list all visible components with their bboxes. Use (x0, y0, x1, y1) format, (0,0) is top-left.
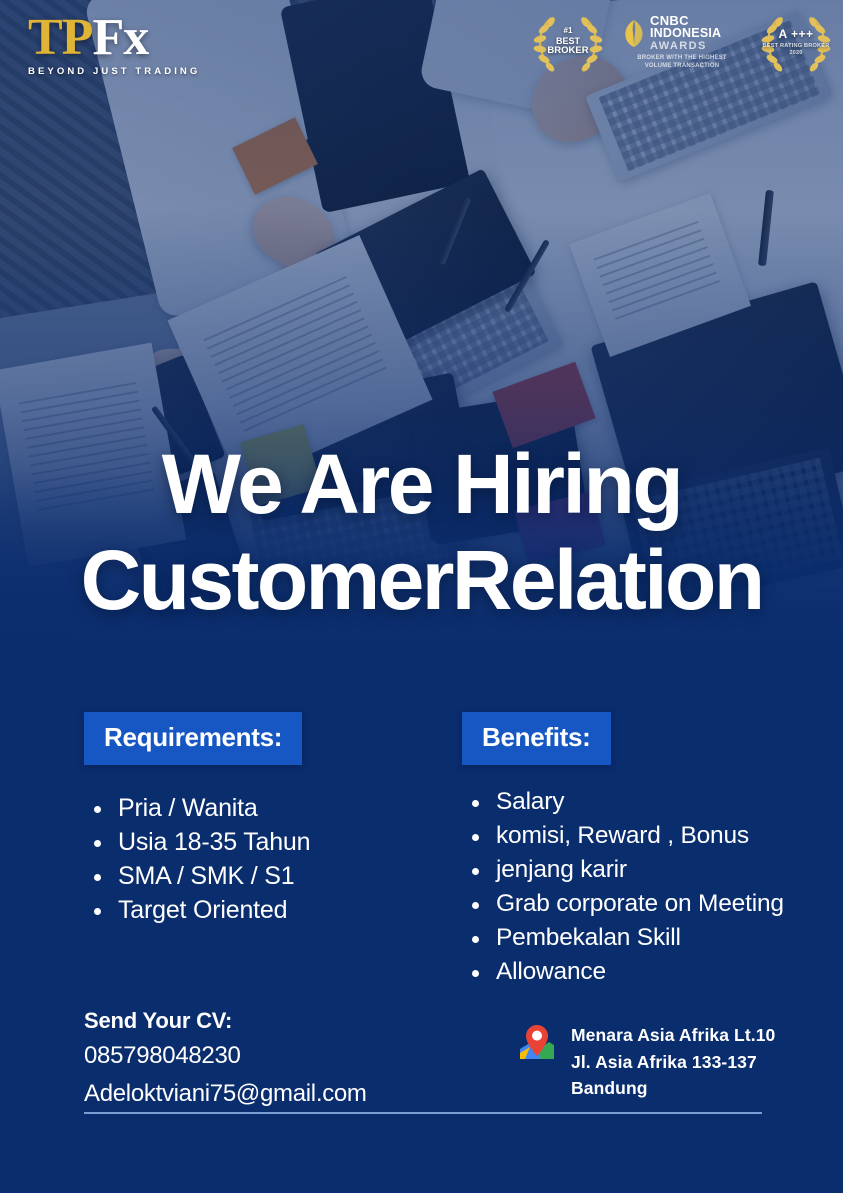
list-item: Target Oriented (84, 893, 444, 927)
list-item: SMA / SMK / S1 (84, 859, 444, 893)
best-broker-award-badge: #1 BEST BROKER (529, 9, 607, 75)
cnbc-subtitle: BROKER WITH THE HIGHEST VOLUME TRANSACTI… (623, 55, 741, 70)
tpfx-logo: TPFx BEYOND JUST TRADING (28, 12, 200, 77)
logo-wordmark: TPFx (28, 12, 200, 64)
cnbc-line1: CNBC (650, 14, 721, 28)
list-item: Salary (462, 785, 832, 819)
cnbc-line2: INDONESIA (650, 27, 721, 40)
address-line1: Menara Asia Afrika Lt.10 (571, 1022, 775, 1049)
send-cv-title: Send Your CV: (84, 1008, 464, 1034)
benefits-list: Salary komisi, Reward , Bonus jenjang ka… (462, 785, 832, 989)
best-rating-award-text: A +++ BEST RATING BROKER 2020 (757, 28, 835, 56)
award3-line1: A +++ (757, 28, 835, 41)
list-item: Grab corporate on Meeting (462, 887, 832, 921)
award1-line1: #1 (547, 27, 588, 36)
requirements-column: Requirements: Pria / Wanita Usia 18-35 T… (84, 712, 444, 927)
list-item: Pembekalan Skill (462, 921, 832, 955)
address-line3: Bandung (571, 1075, 775, 1102)
award-badges: #1 BEST BROKER CNBC INDONESIA (529, 8, 835, 76)
list-item: Pria / Wanita (84, 791, 444, 825)
list-item: Allowance (462, 955, 832, 989)
list-item: Usia 18-35 Tahun (84, 825, 444, 859)
logo-tagline: BEYOND JUST TRADING (28, 66, 200, 77)
list-item: komisi, Reward , Bonus (462, 819, 832, 853)
best-broker-award-text: #1 BEST BROKER (547, 27, 588, 57)
cnbc-indonesia-award-badge: CNBC INDONESIA AWARDS BROKER WITH THE HI… (623, 8, 741, 76)
requirements-title: Requirements: (84, 712, 302, 765)
cnbc-peacock-icon (623, 18, 645, 48)
cnbc-logo-row: CNBC INDONESIA AWARDS (623, 14, 741, 52)
headline-job-title: CustomerRelation (0, 538, 843, 622)
list-item: jenjang karir (462, 853, 832, 887)
job-vacancy-poster: TPFx BEYOND JUST TRADING (0, 0, 843, 1193)
benefits-column: Benefits: Salary komisi, Reward , Bonus … (462, 712, 832, 989)
address-block: Menara Asia Afrika Lt.10 Jl. Asia Afrika… (517, 1022, 775, 1102)
requirements-list: Pria / Wanita Usia 18-35 Tahun SMA / SMK… (84, 791, 444, 927)
cnbc-text-lines: CNBC INDONESIA AWARDS (650, 14, 721, 52)
logo-text-white: Fx (92, 9, 148, 66)
bottom-divider (84, 1112, 762, 1114)
headline-we-are-hiring: We Are Hiring (0, 443, 843, 526)
google-maps-pin-icon (517, 1023, 557, 1063)
award3-line2: BEST RATING BROKER 2020 (757, 43, 835, 56)
best-rating-broker-award-badge: A +++ BEST RATING BROKER 2020 (757, 9, 835, 75)
logo-text-gold: TP (28, 9, 92, 66)
award1-line3: BROKER (547, 46, 588, 57)
headline-block: We Are Hiring CustomerRelation (0, 443, 843, 622)
address-lines: Menara Asia Afrika Lt.10 Jl. Asia Afrika… (571, 1022, 775, 1102)
cnbc-award-content: CNBC INDONESIA AWARDS BROKER WITH THE HI… (623, 14, 741, 70)
address-line2: Jl. Asia Afrika 133-137 (571, 1049, 775, 1076)
contact-email[interactable]: Adeloktviani75@gmail.com (84, 1078, 464, 1110)
benefits-title: Benefits: (462, 712, 611, 765)
contact-block: Send Your CV: 085798048230 Adeloktviani7… (84, 1008, 464, 1109)
poster-body: Requirements: Pria / Wanita Usia 18-35 T… (0, 700, 843, 1193)
contact-phone[interactable]: 085798048230 (84, 1040, 464, 1072)
cnbc-line3: AWARDS (650, 41, 721, 53)
